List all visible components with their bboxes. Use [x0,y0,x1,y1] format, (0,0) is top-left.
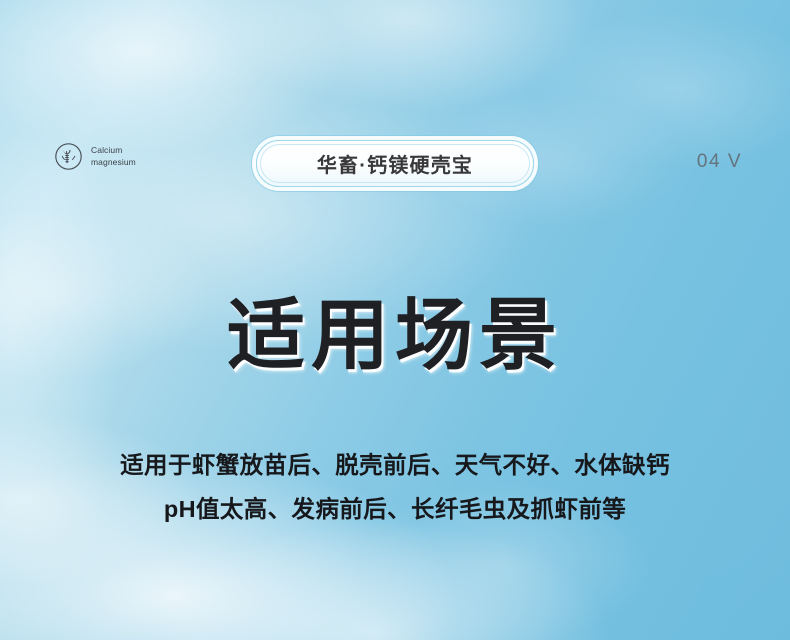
page-number-marker: 04 V [697,151,742,173]
description-line-2: pH值太高、发病前后、长纤毛虫及抓虾前等 [0,487,790,531]
page-title: 适用场景 [0,297,790,375]
description-line-1: 适用于虾蟹放苗后、脱壳前后、天气不好、水体缺钙 [0,443,790,487]
header-bar: Calcium magnesium 华畜·钙镁硬壳宝 04 V [0,140,790,192]
description-block: 适用于虾蟹放苗后、脱壳前后、天气不好、水体缺钙 pH值太高、发病前后、长纤毛虫及… [0,443,790,531]
brand-name: Calcium magnesium [91,145,136,167]
brand-line-2: magnesium [91,157,136,168]
brand-lockup: Calcium magnesium [54,142,136,171]
product-name-label: 华畜·钙镁硬壳宝 [317,149,473,178]
brand-line-1: Calcium [91,145,136,156]
product-slide: Calcium magnesium 华畜·钙镁硬壳宝 04 V 适用场景 适用于… [0,0,790,640]
product-name-badge: 华畜·钙镁硬壳宝 [256,140,534,187]
shrimp-in-circle-icon [54,142,83,171]
